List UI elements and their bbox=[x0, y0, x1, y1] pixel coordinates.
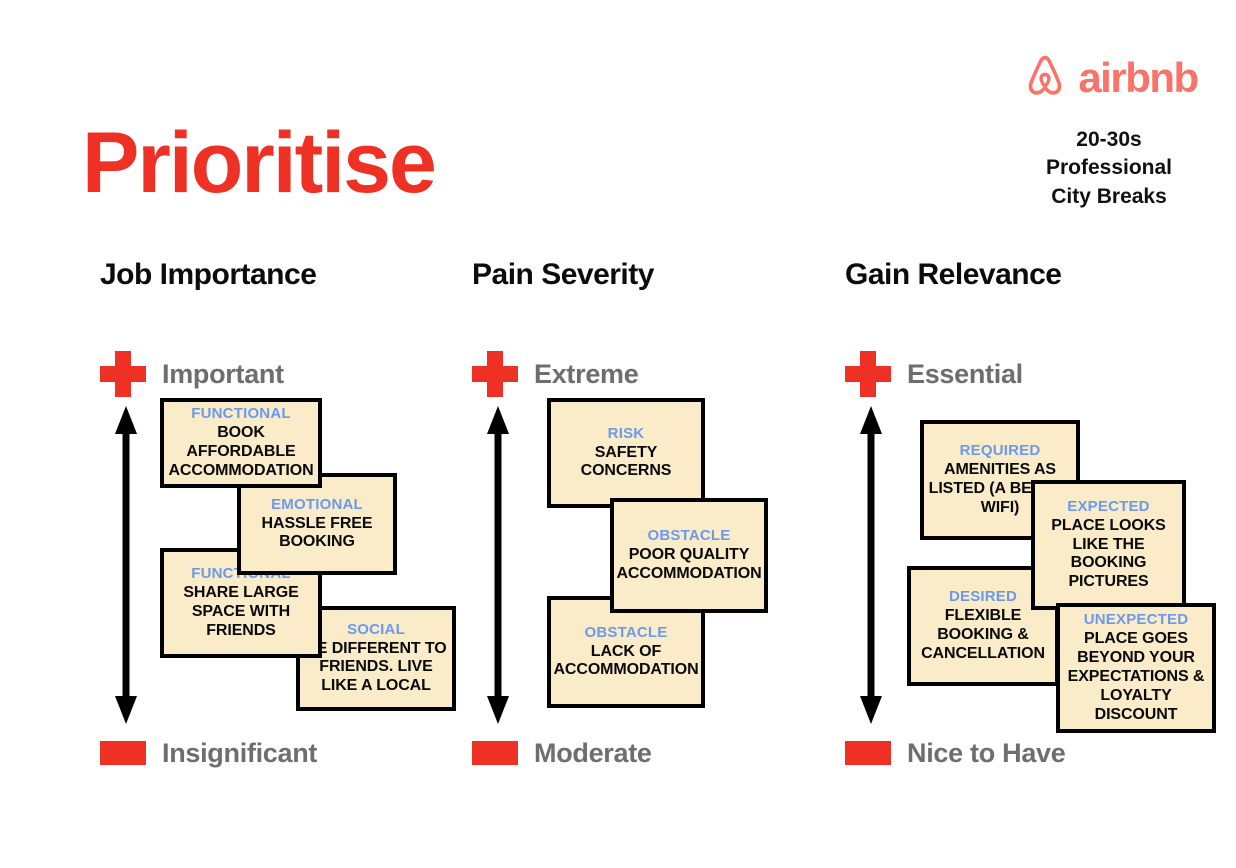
scale-high-marker: Extreme bbox=[472, 350, 638, 398]
column-job-importance: Job Importance Important FUNCTIONAL BOOK… bbox=[100, 258, 480, 300]
card-category: OBSTACLE bbox=[648, 527, 731, 546]
card-category: OBSTACLE bbox=[585, 624, 668, 643]
card-text: SAFETY CONCERNS bbox=[581, 444, 672, 482]
column-gain-relevance: Gain Relevance Essential REQUIRED AMENIT… bbox=[845, 258, 1230, 300]
cards-layer: REQUIRED AMENITIES AS LISTED (A BED OR W… bbox=[845, 398, 1230, 738]
minus-icon bbox=[472, 741, 518, 765]
scale-high-label: Important bbox=[162, 359, 284, 390]
card-category: EMOTIONAL bbox=[271, 496, 363, 515]
column-pain-severity: Pain Severity Extreme RISK SAFETY CONCER… bbox=[472, 258, 802, 300]
scale-high-marker: Important bbox=[100, 350, 284, 398]
airbnb-belo-icon bbox=[1020, 51, 1070, 106]
card-text: SHARE LARGE SPACE WITH FRIENDS bbox=[183, 584, 298, 641]
minus-icon bbox=[100, 741, 146, 765]
priority-card[interactable]: FUNCTIONAL BOOK AFFORDABLE ACCOMMODATION bbox=[160, 398, 322, 488]
cards-layer: FUNCTIONAL BOOK AFFORDABLE ACCOMMODATION… bbox=[100, 398, 480, 738]
plus-icon bbox=[100, 351, 146, 397]
plus-icon bbox=[845, 351, 891, 397]
priority-card[interactable]: UNEXPECTED PLACE GOES BEYOND YOUR EXPECT… bbox=[1056, 603, 1216, 733]
card-category: FUNCTIONAL bbox=[191, 405, 291, 424]
column-title: Gain Relevance bbox=[845, 258, 1230, 300]
scale-low-marker: Nice to Have bbox=[845, 736, 1065, 770]
scale-high-label: Essential bbox=[907, 359, 1023, 390]
column-title: Pain Severity bbox=[472, 258, 802, 300]
priority-card[interactable]: EMOTIONAL HASSLE FREE BOOKING bbox=[237, 473, 397, 575]
priority-card[interactable]: EXPECTED PLACE LOOKS LIKE THE BOOKING PI… bbox=[1031, 480, 1186, 610]
card-category: RISK bbox=[608, 425, 645, 444]
card-category: EXPECTED bbox=[1067, 498, 1149, 517]
scale-high-marker: Essential bbox=[845, 350, 1023, 398]
page-title: Prioritise bbox=[82, 120, 435, 206]
card-text: PLACE GOES BEYOND YOUR EXPECTATIONS & LO… bbox=[1068, 630, 1205, 724]
card-text: HASSLE FREE BOOKING bbox=[262, 515, 373, 553]
card-text: POOR QUALITY ACCOMMODATION bbox=[616, 546, 761, 584]
customer-segment-label: 20-30s Professional City Breaks bbox=[1004, 126, 1214, 211]
card-text: FLEXIBLE BOOKING & CANCELLATION bbox=[921, 607, 1045, 664]
plus-icon bbox=[472, 351, 518, 397]
scale-low-label: Insignificant bbox=[162, 738, 317, 769]
card-category: SOCIAL bbox=[347, 621, 405, 640]
card-category: DESIRED bbox=[949, 588, 1017, 607]
scale-low-label: Moderate bbox=[534, 738, 652, 769]
scale-low-marker: Insignificant bbox=[100, 736, 317, 770]
card-text: BOOK AFFORDABLE ACCOMMODATION bbox=[168, 424, 313, 481]
airbnb-wordmark: airbnb bbox=[1078, 57, 1197, 99]
scale-low-marker: Moderate bbox=[472, 736, 652, 770]
priority-card[interactable]: RISK SAFETY CONCERNS bbox=[547, 398, 705, 508]
scale-high-label: Extreme bbox=[534, 359, 638, 390]
card-category: REQUIRED bbox=[960, 442, 1041, 461]
scale-low-label: Nice to Have bbox=[907, 738, 1065, 769]
card-text: BE DIFFERENT TO FRIENDS. LIVE LIKE A LOC… bbox=[305, 640, 446, 697]
priority-card[interactable]: OBSTACLE POOR QUALITY ACCOMMODATION bbox=[610, 498, 768, 613]
column-title: Job Importance bbox=[100, 258, 480, 300]
card-text: LACK OF ACCOMMODATION bbox=[553, 643, 698, 681]
airbnb-logo: airbnb bbox=[1004, 52, 1214, 104]
card-category: UNEXPECTED bbox=[1084, 611, 1189, 630]
minus-icon bbox=[845, 741, 891, 765]
card-text: PLACE LOOKS LIKE THE BOOKING PICTURES bbox=[1051, 517, 1165, 593]
cards-layer: RISK SAFETY CONCERNS OBSTACLE POOR QUALI… bbox=[472, 398, 802, 738]
brand-block: airbnb 20-30s Professional City Breaks bbox=[1004, 52, 1214, 211]
